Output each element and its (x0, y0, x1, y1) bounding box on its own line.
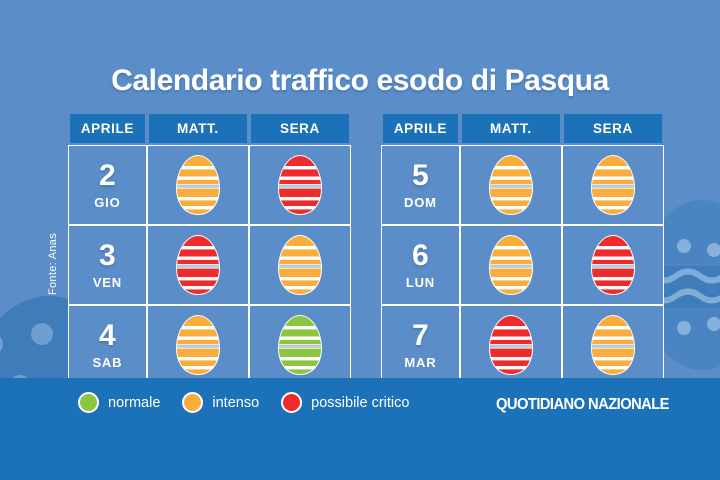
date-cell: 2 GIO (68, 145, 147, 225)
legend-item-normale: normale (78, 392, 160, 413)
page-title: Calendario traffico esodo di Pasqua (0, 64, 720, 98)
day-name: GIO (69, 196, 146, 209)
egg-intenso-icon (485, 153, 537, 217)
table-row: 7 MAR (381, 305, 664, 385)
legend-label-critico: possibile critico (311, 395, 409, 411)
day-number: 5 (382, 161, 459, 191)
table-body: 2 GIO (68, 145, 351, 385)
morning-status-cell (460, 225, 562, 305)
header-mattina: MATT. (460, 112, 562, 145)
egg-critico-icon (274, 153, 326, 217)
egg-critico-icon (172, 233, 224, 297)
egg-critico-icon (587, 233, 639, 297)
egg-intenso-icon (587, 313, 639, 377)
header-aprile: APRILE (68, 112, 147, 145)
morning-status-cell (147, 305, 249, 385)
header-aprile: APRILE (381, 112, 460, 145)
date-cell: 3 VEN (68, 225, 147, 305)
legend-label-normale: normale (108, 395, 160, 411)
morning-status-cell (460, 305, 562, 385)
day-name: LUN (382, 276, 459, 289)
evening-status-cell (562, 145, 664, 225)
day-number: 3 (69, 241, 146, 271)
date-cell: 5 DOM (381, 145, 460, 225)
day-name: SAB (69, 356, 146, 369)
table-row: 2 GIO (68, 145, 351, 225)
brand-wordmark: QUOTIDIANO NAZIONALE (496, 396, 669, 414)
evening-status-cell (562, 305, 664, 385)
day-number: 2 (69, 161, 146, 191)
table-row: 5 DOM (381, 145, 664, 225)
day-name: MAR (382, 356, 459, 369)
legend-dot-critico-icon (281, 392, 302, 413)
calendar-table-right: APRILE MATT. SERA 5 DOM (381, 112, 664, 385)
day-name: VEN (69, 276, 146, 289)
date-cell: 4 SAB (68, 305, 147, 385)
day-name: DOM (382, 196, 459, 209)
table-header-row: APRILE MATT. SERA (68, 112, 351, 145)
table-row: 3 VEN (68, 225, 351, 305)
morning-status-cell (460, 145, 562, 225)
day-number: 6 (382, 241, 459, 271)
legend-item-critico: possibile critico (281, 392, 409, 413)
legend-item-intenso: intenso (182, 392, 259, 413)
header-sera: SERA (562, 112, 664, 145)
evening-status-cell (562, 225, 664, 305)
egg-critico-icon (485, 313, 537, 377)
day-number: 4 (69, 321, 146, 351)
egg-normale-icon (274, 313, 326, 377)
header-mattina: MATT. (147, 112, 249, 145)
morning-status-cell (147, 145, 249, 225)
infographic-canvas: Calendario traffico esodo di Pasqua Font… (0, 0, 720, 480)
morning-status-cell (147, 225, 249, 305)
table-row: 4 SAB (68, 305, 351, 385)
table-body: 5 DOM (381, 145, 664, 385)
date-cell: 7 MAR (381, 305, 460, 385)
egg-intenso-icon (485, 233, 537, 297)
egg-intenso-icon (172, 153, 224, 217)
day-number: 7 (382, 321, 459, 351)
header-sera: SERA (249, 112, 351, 145)
table-row: 6 LUN (381, 225, 664, 305)
evening-status-cell (249, 225, 351, 305)
table-header-row: APRILE MATT. SERA (381, 112, 664, 145)
legend-dot-intenso-icon (182, 392, 203, 413)
evening-status-cell (249, 305, 351, 385)
decorative-striped-egg-icon (658, 196, 720, 387)
date-cell: 6 LUN (381, 225, 460, 305)
source-label: Fonte: Anas (47, 204, 59, 324)
legend-label-intenso: intenso (212, 395, 259, 411)
evening-status-cell (249, 145, 351, 225)
footer-bar: normale intenso possibile critico QUOTID… (0, 378, 720, 480)
calendar-table-left: APRILE MATT. SERA 2 GIO (68, 112, 351, 385)
egg-intenso-icon (587, 153, 639, 217)
egg-intenso-icon (274, 233, 326, 297)
legend-dot-normale-icon (78, 392, 99, 413)
egg-intenso-icon (172, 313, 224, 377)
legend: normale intenso possibile critico (78, 392, 409, 413)
